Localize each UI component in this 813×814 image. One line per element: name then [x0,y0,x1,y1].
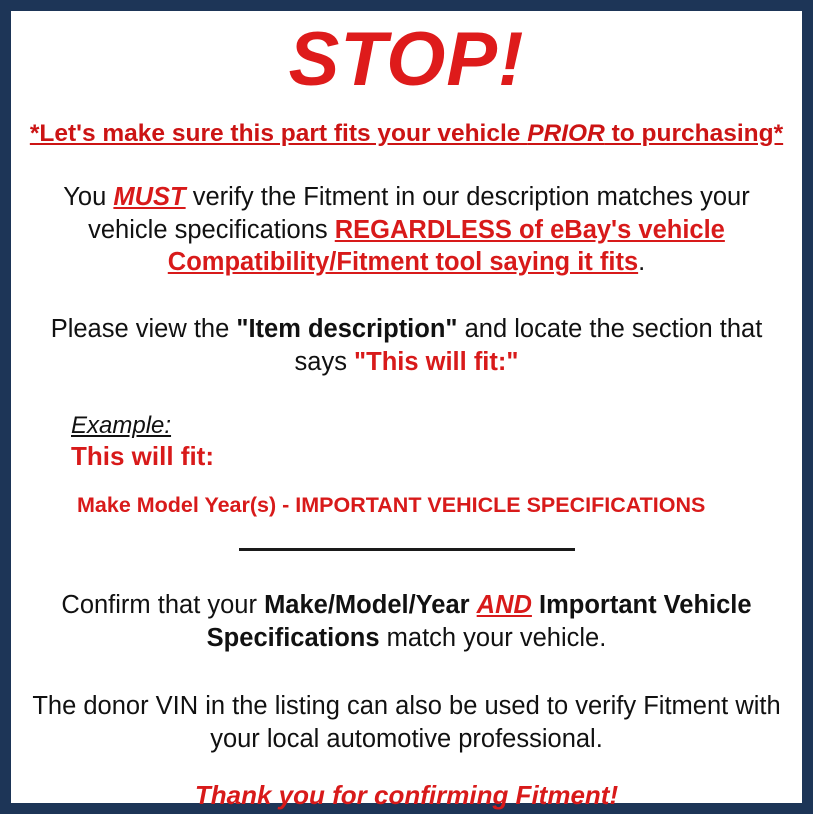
confirm-seg-5 [532,591,539,619]
divider-container [25,541,788,559]
notice-content: STOP! *Let's make sure this part fits yo… [11,11,802,803]
and-emphasis: AND [477,591,532,619]
confirm-seg-7: match your vehicle. [380,624,607,652]
example-block: Example: This will fit: Make Model Year(… [25,412,788,519]
view-seg-1: Please view the [51,315,237,343]
confirm-seg-3 [470,591,477,619]
paragraph-must-verify: You MUST verify the Fitment in our descr… [25,181,788,279]
example-spec-line: Make Model Year(s) - IMPORTANT VEHICLE S… [77,493,788,519]
section-divider [239,548,575,551]
fitment-notice-card: STOP! *Let's make sure this part fits yo… [0,0,813,814]
confirm-seg-1: Confirm that your [61,591,264,619]
must-seg-1: You [63,183,113,211]
must-emphasis: MUST [113,183,185,211]
paragraph-item-description: Please view the "Item description" and l… [25,313,788,378]
closing-thank-you: Thank you for confirming Fitment! [25,780,788,811]
subtitle-prefix: *Let's make sure this part fits your veh… [30,120,527,147]
item-description-emphasis: "Item description" [236,315,457,343]
paragraph-donor-vin: The donor VIN in the listing can also be… [25,690,788,755]
example-label: Example: [71,412,171,440]
subtitle-banner: *Let's make sure this part fits your veh… [25,119,788,150]
make-model-year-emphasis: Make/Model/Year [264,591,470,619]
must-seg-5: . [638,248,645,276]
subtitle-suffix: to purchasing* [605,120,783,147]
page-title: STOP! [25,17,788,99]
this-will-fit-emphasis: "This will fit:" [354,348,518,376]
subtitle-emphasis-prior: PRIOR [527,120,605,147]
example-fit-label: This will fit: [71,441,788,472]
paragraph-confirm: Confirm that your Make/Model/Year AND Im… [25,589,788,654]
